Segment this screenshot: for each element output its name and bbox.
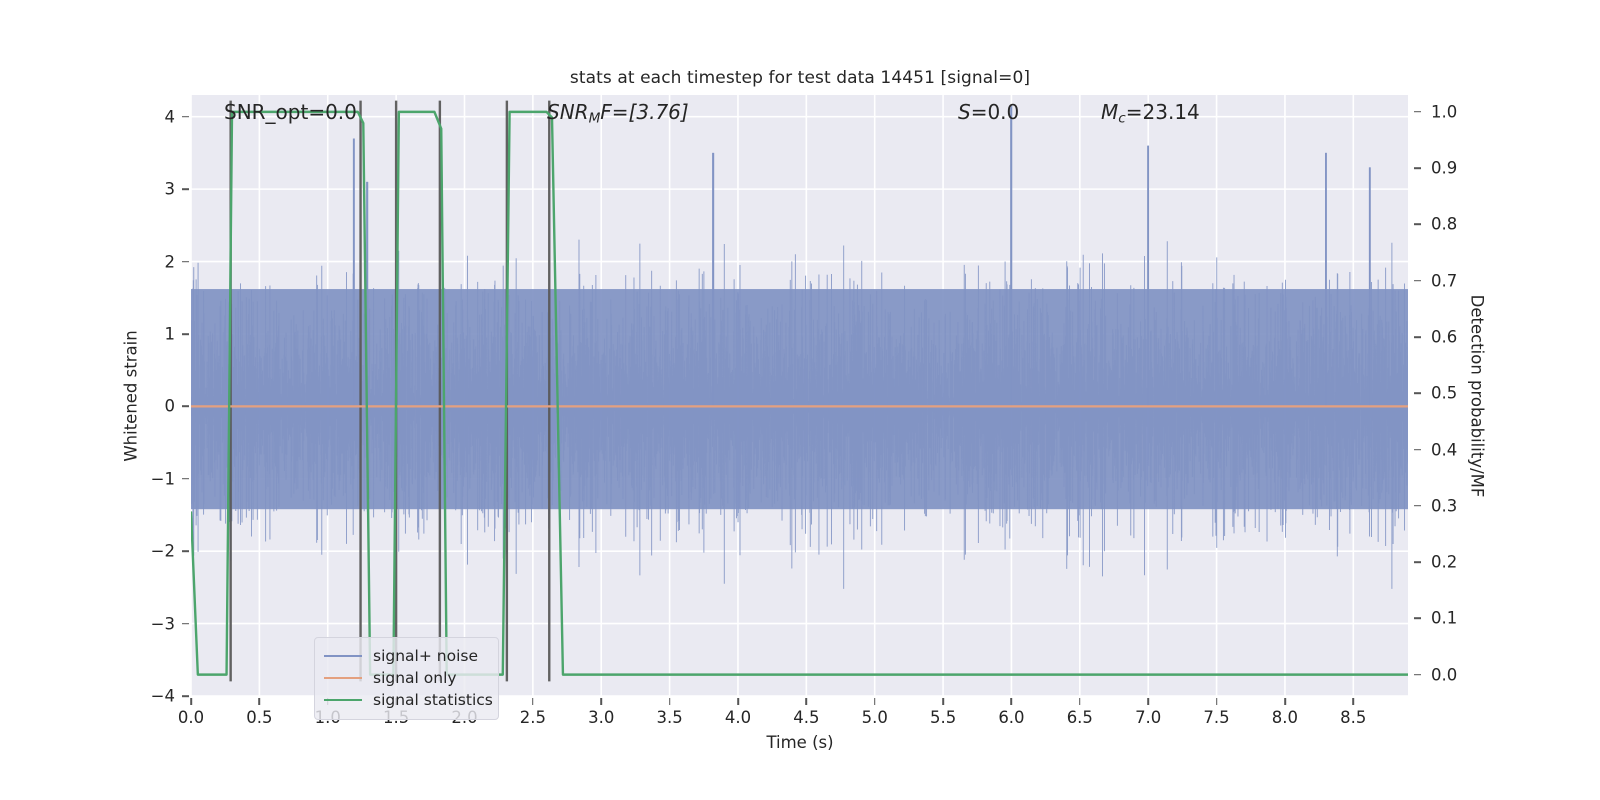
legend-item-1[interactable]: signal only (324, 667, 489, 689)
x-tick-1: 0.5 (246, 708, 272, 727)
x-tick-mark-5 (532, 698, 534, 705)
y-tick-mark-right-5 (1414, 392, 1421, 394)
x-tick-mark-9 (806, 698, 808, 705)
x-tick-mark-17 (1353, 698, 1355, 705)
x-tick-6: 3.0 (588, 708, 614, 727)
annotation-mc-subscript: c (1118, 110, 1125, 126)
plot-axes-area (191, 95, 1408, 696)
y-tick-mark-left-7 (182, 623, 189, 625)
x-tick-mark-10 (874, 698, 876, 705)
x-tick-11: 5.5 (930, 708, 956, 727)
y-tick-mark-left-0 (182, 116, 189, 118)
y-tick-mark-right-6 (1414, 449, 1421, 451)
y-tick-mark-right-2 (1414, 224, 1421, 226)
legend-box: signal+ noisesignal onlysignal statistic… (314, 637, 499, 720)
y-tick-mark-right-0 (1414, 111, 1421, 113)
y-tick-mark-right-3 (1414, 280, 1421, 282)
legend-swatch-icon-2 (324, 699, 362, 701)
y-tick-mark-right-10 (1414, 674, 1421, 676)
y-tick-mark-left-8 (182, 695, 189, 697)
y-tick-mark-left-2 (182, 261, 189, 263)
y-tick-right-6: 0.4 (1431, 440, 1457, 459)
annotation-snr-mf-suffix: F=[3.76] (600, 100, 688, 124)
y-tick-right-2: 0.8 (1431, 215, 1457, 234)
y-tick-mark-left-4 (182, 406, 189, 408)
legend-item-2[interactable]: signal statistics (324, 689, 489, 711)
annotation-snr-opt: SNR_opt=0.0 (224, 100, 357, 124)
y-tick-left-2: 2 (131, 252, 175, 271)
x-tick-17: 8.5 (1340, 708, 1366, 727)
legend-label-0: signal+ noise (373, 647, 478, 665)
x-tick-mark-11 (942, 698, 944, 705)
annotation-snr-mf-subscript: M (589, 110, 601, 126)
annotation-snr-mf-prefix: SNR (547, 100, 589, 124)
legend-swatch-icon-1 (324, 677, 362, 679)
y-tick-right-5: 0.5 (1431, 384, 1457, 403)
y-tick-right-10: 0.0 (1431, 665, 1457, 684)
y-tick-left-7: −3 (131, 614, 175, 633)
y-tick-right-7: 0.3 (1431, 496, 1457, 515)
y-tick-right-8: 0.2 (1431, 553, 1457, 572)
y-tick-left-1: 3 (131, 180, 175, 199)
x-tick-mark-8 (737, 698, 739, 705)
x-tick-mark-16 (1284, 698, 1286, 705)
page-title: stats at each timestep for test data 144… (0, 68, 1600, 88)
figure-canvas: stats at each timestep for test data 144… (0, 0, 1600, 800)
y-tick-left-5: −1 (131, 469, 175, 488)
x-tick-5: 2.5 (520, 708, 546, 727)
x-tick-9: 4.5 (793, 708, 819, 727)
x-tick-mark-1 (259, 698, 261, 705)
y-tick-mark-left-3 (182, 333, 189, 335)
y-tick-left-8: −4 (131, 687, 175, 706)
y-axis-right-label: Detection probability/MF (1468, 295, 1487, 498)
annotation-s-suffix: =0.0 (971, 100, 1020, 124)
x-tick-0: 0.0 (178, 708, 204, 727)
y-tick-left-0: 4 (131, 107, 175, 126)
x-tick-mark-12 (1011, 698, 1013, 705)
y-axis-left-label: Whitened strain (122, 330, 141, 461)
annotation-s-prefix: S (958, 100, 971, 124)
y-tick-mark-right-7 (1414, 505, 1421, 507)
x-tick-mark-6 (600, 698, 602, 705)
annotation-mc: Mc=23.14 (1101, 100, 1200, 126)
x-tick-mark-0 (190, 698, 192, 705)
x-tick-7: 3.5 (656, 708, 682, 727)
y-tick-left-6: −2 (131, 542, 175, 561)
x-tick-mark-7 (669, 698, 671, 705)
y-tick-mark-right-1 (1414, 167, 1421, 169)
y-tick-right-1: 0.9 (1431, 159, 1457, 178)
annotation-mc-prefix: M (1101, 100, 1118, 124)
legend-item-0[interactable]: signal+ noise (324, 645, 489, 667)
y-tick-mark-left-5 (182, 478, 189, 480)
y-tick-mark-right-9 (1414, 618, 1421, 620)
y-tick-right-3: 0.7 (1431, 271, 1457, 290)
data-traces (191, 95, 1408, 696)
x-tick-12: 6.0 (998, 708, 1024, 727)
legend-label-1: signal only (373, 669, 457, 687)
annotation-snr-mf: SNRMF=[3.76] (547, 100, 689, 126)
x-tick-10: 5.0 (862, 708, 888, 727)
x-tick-13: 6.5 (1067, 708, 1093, 727)
y-tick-right-0: 1.0 (1431, 102, 1457, 121)
annotation-mc-suffix: =23.14 (1126, 100, 1200, 124)
y-tick-mark-left-6 (182, 550, 189, 552)
y-tick-mark-right-4 (1414, 336, 1421, 338)
legend-swatch-icon-0 (324, 655, 362, 657)
x-tick-mark-13 (1079, 698, 1081, 705)
x-tick-8: 4.0 (725, 708, 751, 727)
x-tick-mark-15 (1216, 698, 1218, 705)
annotation-s: S=0.0 (958, 100, 1019, 124)
x-tick-mark-14 (1147, 698, 1149, 705)
x-tick-15: 7.5 (1203, 708, 1229, 727)
y-tick-right-9: 0.1 (1431, 609, 1457, 628)
y-tick-mark-right-8 (1414, 561, 1421, 563)
legend-label-2: signal statistics (373, 691, 493, 709)
x-axis-label: Time (s) (766, 733, 833, 752)
y-tick-right-4: 0.6 (1431, 327, 1457, 346)
x-tick-14: 7.0 (1135, 708, 1161, 727)
x-tick-16: 8.0 (1272, 708, 1298, 727)
y-tick-mark-left-1 (182, 188, 189, 190)
